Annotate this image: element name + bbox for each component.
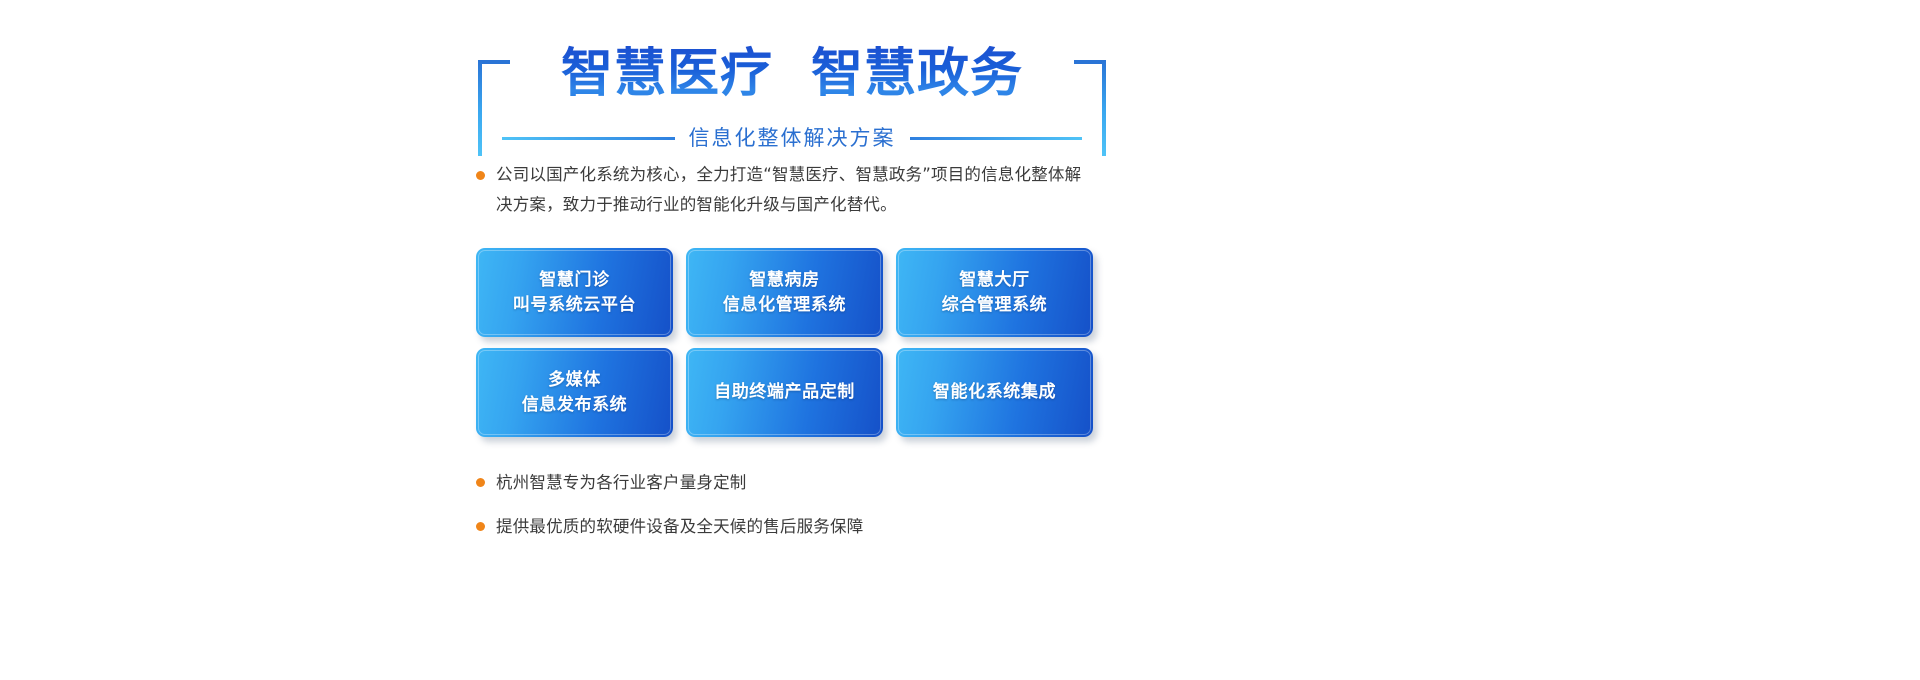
card-line-2: 信息发布系统 <box>522 395 628 415</box>
card-line-2: 综合管理系统 <box>942 295 1048 315</box>
bullet-dot-icon <box>476 171 485 180</box>
list-item-label: 提供最优质的软硬件设备及全天候的售后服务保障 <box>496 514 863 540</box>
solution-card-grid: 智慧门诊 叫号系统云平台 智慧病房 信息化管理系统 智慧大厅 综合管理系统 多媒… <box>476 248 1094 437</box>
subtitle-rule-right <box>910 137 1083 140</box>
card-line-1: 智能化系统集成 <box>933 382 1056 402</box>
list-item: 提供最优质的软硬件设备及全天候的售后服务保障 <box>476 514 1094 540</box>
bullet-dot-icon <box>476 522 485 531</box>
intro-text: 公司以国产化系统为核心，全力打造“智慧医疗、智慧政务”项目的信息化整体解决方案，… <box>496 160 1094 220</box>
banner-stage: 智慧医疗智慧政务 信息化整体解决方案 公司以国产化系统为核心，全力打造“智慧医疗… <box>0 0 1920 680</box>
card-line-1: 智慧门诊 <box>539 270 609 290</box>
solution-card[interactable]: 自助终端产品定制 <box>686 348 883 437</box>
card-line-2: 叫号系统云平台 <box>513 295 636 315</box>
card-line-1: 自助终端产品定制 <box>714 382 855 402</box>
solution-card-label: 智慧大厅 综合管理系统 <box>936 268 1054 318</box>
card-line-1: 智慧大厅 <box>959 270 1029 290</box>
solution-card[interactable]: 智慧病房 信息化管理系统 <box>686 248 883 337</box>
solution-card-label: 智慧病房 信息化管理系统 <box>717 268 852 318</box>
solution-card[interactable]: 智能化系统集成 <box>896 348 1093 437</box>
solution-card-label: 多媒体 信息发布系统 <box>516 368 634 418</box>
solution-card[interactable]: 智慧大厅 综合管理系统 <box>896 248 1093 337</box>
list-item: 杭州智慧专为各行业客户量身定制 <box>476 470 1094 496</box>
subtitle-rule-left <box>502 137 675 140</box>
title-block: 智慧医疗智慧政务 信息化整体解决方案 <box>472 22 1112 140</box>
solution-card-label: 智能化系统集成 <box>927 380 1062 405</box>
card-line-1: 智慧病房 <box>749 270 819 290</box>
list-item-label: 杭州智慧专为各行业客户量身定制 <box>496 470 747 496</box>
subtitle-row: 信息化整体解决方案 <box>502 122 1082 154</box>
page-title: 智慧医疗智慧政务 <box>472 44 1112 104</box>
page-subtitle: 信息化整体解决方案 <box>689 125 896 151</box>
page-title-part-1: 智慧医疗 <box>561 44 773 104</box>
feature-bullet-list: 杭州智慧专为各行业客户量身定制 提供最优质的软硬件设备及全天候的售后服务保障 <box>476 470 1094 558</box>
intro-paragraph: 公司以国产化系统为核心，全力打造“智慧医疗、智慧政务”项目的信息化整体解决方案，… <box>476 160 1094 220</box>
card-line-1: 多媒体 <box>548 370 601 390</box>
solution-card-label: 智慧门诊 叫号系统云平台 <box>507 268 642 318</box>
solution-card-label: 自助终端产品定制 <box>708 380 861 405</box>
solution-card[interactable]: 多媒体 信息发布系统 <box>476 348 673 437</box>
page-title-part-2: 智慧政务 <box>811 44 1023 104</box>
bullet-dot-icon <box>476 478 485 487</box>
card-line-2: 信息化管理系统 <box>723 295 846 315</box>
content-column: 智慧医疗智慧政务 信息化整体解决方案 公司以国产化系统为核心，全力打造“智慧医疗… <box>472 0 1112 680</box>
solution-card[interactable]: 智慧门诊 叫号系统云平台 <box>476 248 673 337</box>
